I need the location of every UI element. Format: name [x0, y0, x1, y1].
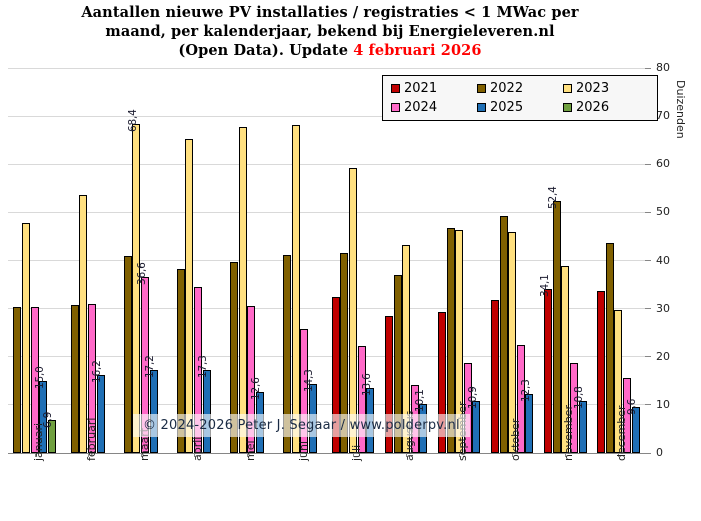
legend-swatch-2024: [391, 103, 400, 112]
legend-row-1: 2021 2022 2023: [391, 81, 649, 96]
legend-item-2025[interactable]: 2025: [477, 100, 563, 115]
bar-december-2022[interactable]: [606, 243, 614, 453]
chart-plot-area: 01020304050607080Duizenden15,06,9januari…: [8, 68, 653, 453]
legend-swatch-2026: [563, 103, 572, 112]
gridline-40: [8, 260, 645, 261]
y-tick-40: [645, 260, 651, 261]
y-tick-label-0: 0: [656, 446, 663, 459]
legend-item-2026[interactable]: 2026: [563, 100, 649, 115]
legend-row-2: 2024 2025 2026: [391, 100, 649, 115]
x-axis-label-mei: mei: [244, 440, 257, 461]
bar-oktober-2025[interactable]: [525, 394, 533, 453]
x-axis-label-oktober: oktober: [509, 419, 522, 461]
bar-value-label-januari-2025: 15,0: [34, 366, 46, 389]
bar-value-label-juli-2025: 13,6: [361, 373, 373, 396]
legend-swatch-2023: [563, 84, 572, 93]
legend-swatch-2021: [391, 84, 400, 93]
legend-item-2023[interactable]: 2023: [563, 81, 649, 96]
y-axis-title: Duizenden: [674, 80, 687, 139]
gridline-60: [8, 164, 645, 165]
bar-juli-2023[interactable]: [349, 168, 357, 453]
copyright-watermark: © 2024-2026 Peter J. Segaar / www.polder…: [133, 414, 470, 437]
y-tick-label-40: 40: [656, 254, 670, 267]
bar-mei-2023[interactable]: [239, 127, 247, 453]
legend-label-2024: 2024: [404, 100, 437, 115]
legend-item-2021[interactable]: 2021: [391, 81, 477, 96]
bar-december-2021[interactable]: [597, 291, 605, 453]
title-update-prefix: (Open Data). Update: [178, 42, 353, 59]
title-line-1: Aantallen nieuwe PV installaties / regis…: [0, 3, 660, 22]
x-axis-label-februari: februari: [85, 418, 98, 461]
legend-item-2022[interactable]: 2022: [477, 81, 563, 96]
bar-januari-2022[interactable]: [13, 307, 21, 453]
x-axis-label-juli: juli: [350, 445, 363, 461]
legend-label-2022: 2022: [490, 81, 523, 96]
y-tick-label-10: 10: [656, 398, 670, 411]
y-tick-label-30: 30: [656, 302, 670, 315]
bar-februari-2022[interactable]: [71, 305, 79, 453]
bar-value-label-februari-2025: 16,2: [91, 360, 103, 383]
y-tick-label-80: 80: [656, 61, 670, 74]
bar-januari-2023[interactable]: [22, 223, 30, 453]
x-axis-label-juni: juni: [297, 441, 310, 461]
y-tick-10: [645, 404, 651, 405]
legend-label-2023: 2023: [576, 81, 609, 96]
title-line-2: maand, per kalenderjaar, bekend bij Ener…: [0, 22, 660, 41]
bar-value-label-oktober-2025: 12,3: [520, 379, 532, 402]
y-tick-0: [645, 453, 651, 454]
y-tick-80: [645, 68, 651, 69]
bar-value-label-november-2021: 34,1: [539, 274, 551, 297]
legend-label-2026: 2026: [576, 100, 609, 115]
bar-februari-2023[interactable]: [79, 195, 87, 453]
bar-maart-2022[interactable]: [124, 256, 132, 453]
bar-value-label-augustus-2025: 10,1: [414, 390, 426, 413]
y-tick-label-20: 20: [656, 350, 670, 363]
y-tick-20: [645, 356, 651, 357]
gridline-50: [8, 212, 645, 213]
chart-title: Aantallen nieuwe PV installaties / regis…: [0, 3, 660, 60]
bar-value-label-maart-2024: 36,6: [136, 262, 148, 285]
chart-canvas: 01020304050607080Duizenden15,06,9januari…: [8, 68, 653, 453]
legend-item-2024[interactable]: 2024: [391, 100, 477, 115]
legend-label-2021: 2021: [404, 81, 437, 96]
bar-value-label-maart-2025: 17,2: [144, 356, 156, 379]
x-axis-label-april: april: [191, 437, 204, 461]
bar-value-label-april-2025: 17,3: [197, 355, 209, 378]
bar-november-2021[interactable]: [544, 289, 552, 453]
y-tick-label-60: 60: [656, 157, 670, 170]
legend-swatch-2025: [477, 103, 486, 112]
y-tick-30: [645, 308, 651, 309]
bar-oktober-2022[interactable]: [500, 216, 508, 453]
y-tick-60: [645, 164, 651, 165]
y-tick-label-50: 50: [656, 205, 670, 218]
legend-label-2025: 2025: [490, 100, 523, 115]
bar-value-label-november-2022: 52,4: [547, 186, 559, 209]
bar-april-2023[interactable]: [185, 139, 193, 453]
y-tick-label-70: 70: [656, 109, 670, 122]
bar-value-label-mei-2025: 12,6: [250, 378, 262, 401]
chart-legend: 2021 2022 2023 2024 2025 2026: [382, 75, 658, 121]
x-axis-label-januari: januari: [32, 423, 45, 461]
x-axis-label-december: december: [615, 405, 628, 461]
bar-oktober-2021[interactable]: [491, 300, 499, 453]
legend-swatch-2022: [477, 84, 486, 93]
x-axis-label-november: november: [562, 405, 575, 461]
title-update-date: 4 februari 2026: [353, 42, 481, 59]
bar-maart-2023[interactable]: [132, 124, 140, 453]
bar-november-2022[interactable]: [553, 201, 561, 453]
gridline-80: [8, 68, 645, 69]
y-tick-50: [645, 212, 651, 213]
bar-value-label-maart-2023: 68,4: [127, 109, 139, 132]
bar-value-label-juni-2025: 14,3: [303, 370, 315, 393]
title-line-3: (Open Data). Update 4 februari 2026: [0, 41, 660, 60]
bar-juni-2023[interactable]: [292, 125, 300, 453]
